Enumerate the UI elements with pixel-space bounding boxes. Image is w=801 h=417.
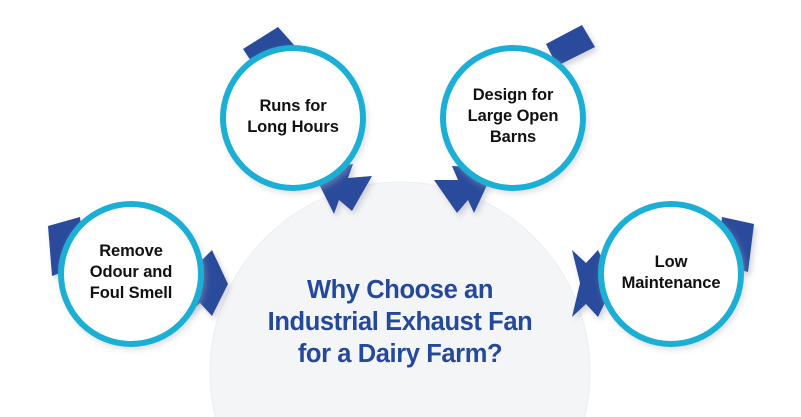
page-title: Why Choose an Industrial Exhaust Fan for… bbox=[190, 274, 610, 370]
node-circle-design-for-large-open-barns[interactable] bbox=[443, 48, 583, 188]
infographic-canvas: Runs for Long Hours Design for Large Ope… bbox=[0, 0, 801, 417]
node-circle-low-maintenance[interactable] bbox=[601, 204, 741, 344]
node-circle-runs-for-long-hours[interactable] bbox=[223, 48, 363, 188]
node-circle-remove-odour-and-foul-smell[interactable] bbox=[61, 204, 201, 344]
